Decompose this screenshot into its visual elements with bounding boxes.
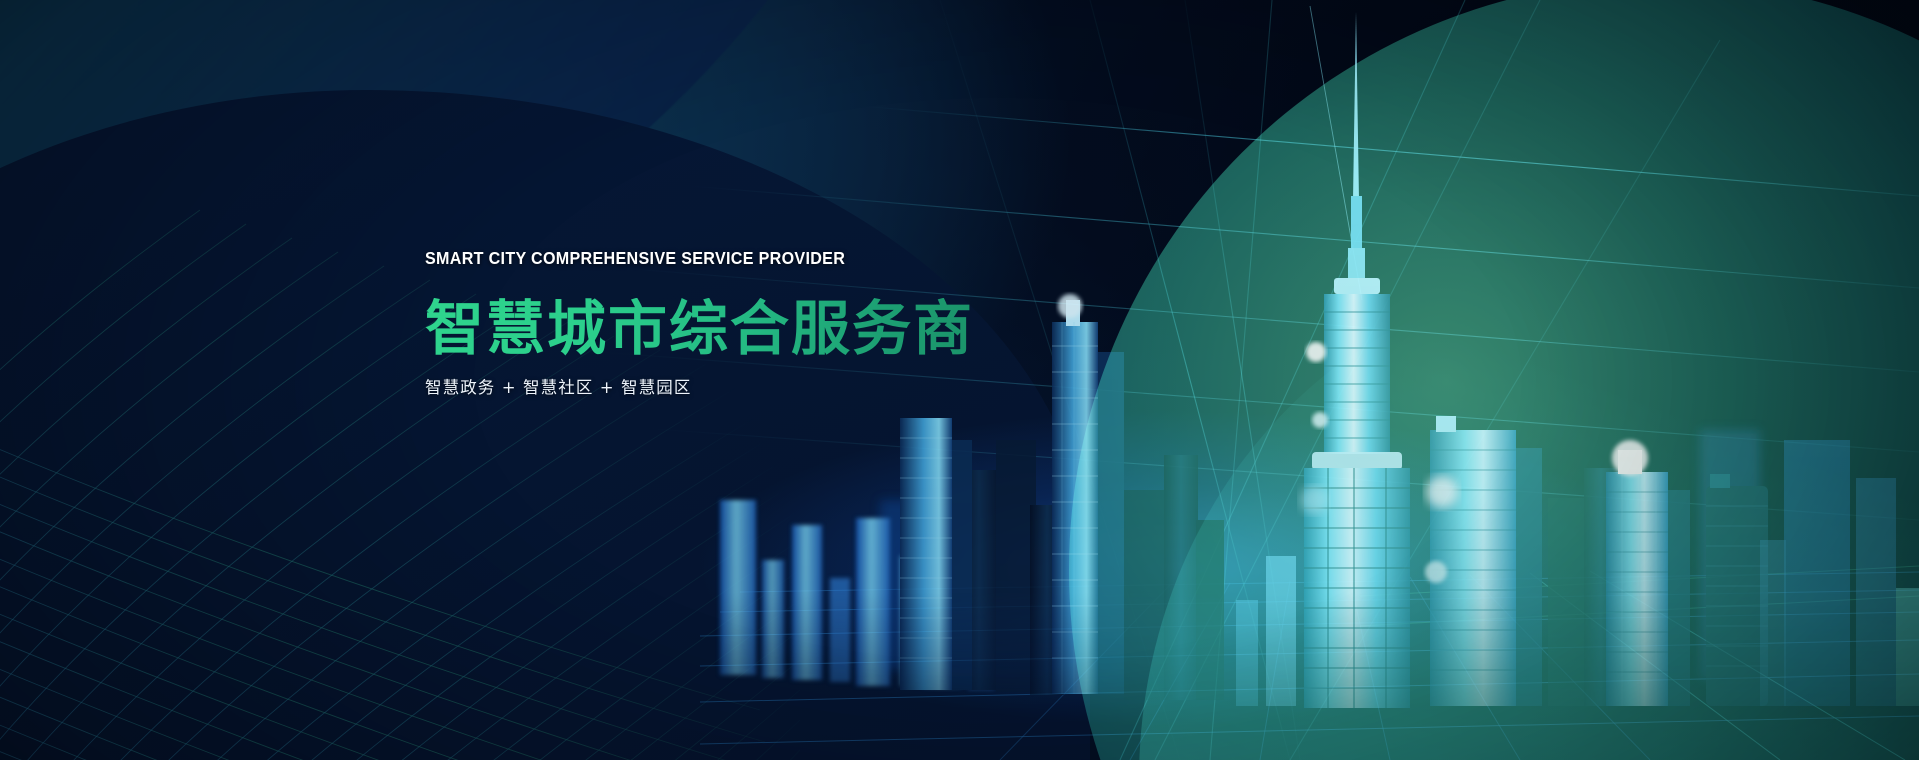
page-title: 智慧城市综合服务商 xyxy=(425,298,1045,361)
hero-eyebrow-text: SMART CITY COMPREHENSIVE SERVICE PROVIDE… xyxy=(425,250,995,268)
hero-banner: SMART CITY COMPREHENSIVE SERVICE PROVIDE… xyxy=(0,0,1919,760)
hero-subtitle-text: 智慧政务 + 智慧社区 + 智慧园区 xyxy=(425,374,1045,398)
hero-copy-block: SMART CITY COMPREHENSIVE SERVICE PROVIDE… xyxy=(425,250,1045,398)
